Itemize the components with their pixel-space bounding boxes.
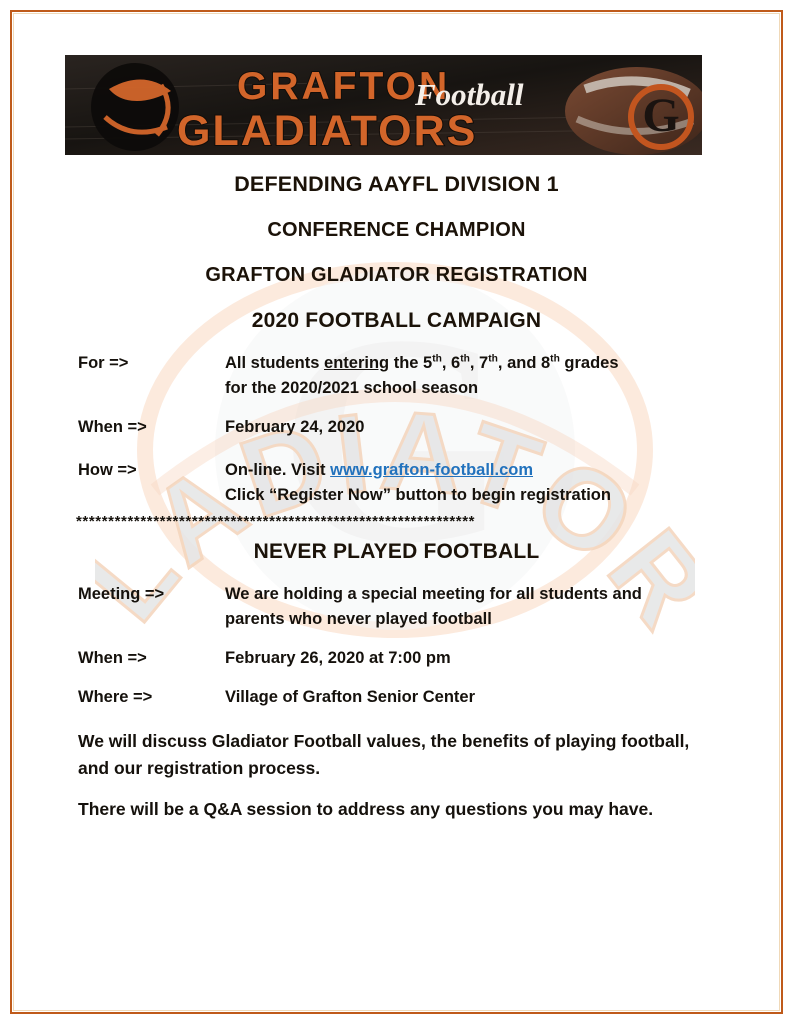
row-how: How => On-line. Visit www.grafton-footba… bbox=[0, 458, 793, 508]
ordinal-7th: th bbox=[488, 354, 498, 365]
row-when-meeting: When => February 26, 2020 at 7:00 pm bbox=[0, 646, 793, 671]
label-where-meeting: Where => bbox=[78, 685, 218, 710]
heading-never-played-football: NEVER PLAYED FOOTBALL bbox=[0, 540, 793, 564]
value-when-meeting: February 26, 2020 at 7:00 pm bbox=[225, 646, 793, 671]
ordinal-6th: th bbox=[460, 354, 470, 365]
for-grade6: , 6 bbox=[442, 354, 460, 372]
value-how-line1: On-line. Visit www.grafton-football.com bbox=[225, 458, 793, 483]
label-when-meeting: When => bbox=[78, 646, 218, 671]
row-where-meeting: Where => Village of Grafton Senior Cente… bbox=[0, 685, 793, 710]
heading-campaign: 2020 FOOTBALL CAMPAIGN bbox=[0, 309, 793, 333]
value-when-registration: February 24, 2020 bbox=[225, 415, 793, 440]
for-grade5: the 5 bbox=[389, 354, 432, 372]
for-grade7: , 7 bbox=[470, 354, 488, 372]
closing-paragraph-1: We will discuss Gladiator Football value… bbox=[0, 728, 793, 782]
value-for-line2: for the 2020/2021 school season bbox=[225, 376, 793, 401]
row-when-registration: When => February 24, 2020 bbox=[0, 415, 793, 440]
how-prefix: On-line. Visit bbox=[225, 461, 330, 479]
heading-conference-champion: CONFERENCE CHAMPION bbox=[0, 219, 793, 242]
heading-defending-division: DEFENDING AAYFL DIVISION 1 bbox=[0, 172, 793, 197]
label-meeting: Meeting => bbox=[78, 582, 218, 607]
label-how: How => bbox=[78, 458, 218, 483]
registration-website-link[interactable]: www.grafton-football.com bbox=[330, 461, 533, 479]
value-for-line1: All students entering the 5th, 6th, 7th,… bbox=[225, 351, 793, 376]
asterisk-divider: ****************************************… bbox=[0, 514, 793, 530]
value-where-meeting: Village of Grafton Senior Center bbox=[225, 685, 793, 710]
for-text-before: All students bbox=[225, 354, 324, 372]
flyer-page: G GLADIATORS bbox=[0, 0, 793, 1024]
for-grade8: , and 8 bbox=[498, 354, 550, 372]
label-when-registration: When => bbox=[78, 415, 218, 440]
value-how-line2: Click “Register Now” button to begin reg… bbox=[225, 483, 793, 508]
value-meeting-line2: parents who never played football bbox=[225, 607, 793, 632]
row-for: For => All students entering the 5th, 6t… bbox=[0, 351, 793, 401]
ordinal-5th: th bbox=[432, 354, 442, 365]
for-grades-tail: grades bbox=[560, 354, 619, 372]
ordinal-8th: th bbox=[550, 354, 560, 365]
heading-registration: GRAFTON GLADIATOR REGISTRATION bbox=[0, 264, 793, 287]
label-for: For => bbox=[78, 351, 218, 376]
closing-paragraph-2: There will be a Q&A session to address a… bbox=[0, 796, 793, 823]
value-meeting-line1: We are holding a special meeting for all… bbox=[225, 582, 793, 607]
row-meeting: Meeting => We are holding a special meet… bbox=[0, 582, 793, 632]
for-underlined-entering: entering bbox=[324, 354, 389, 372]
